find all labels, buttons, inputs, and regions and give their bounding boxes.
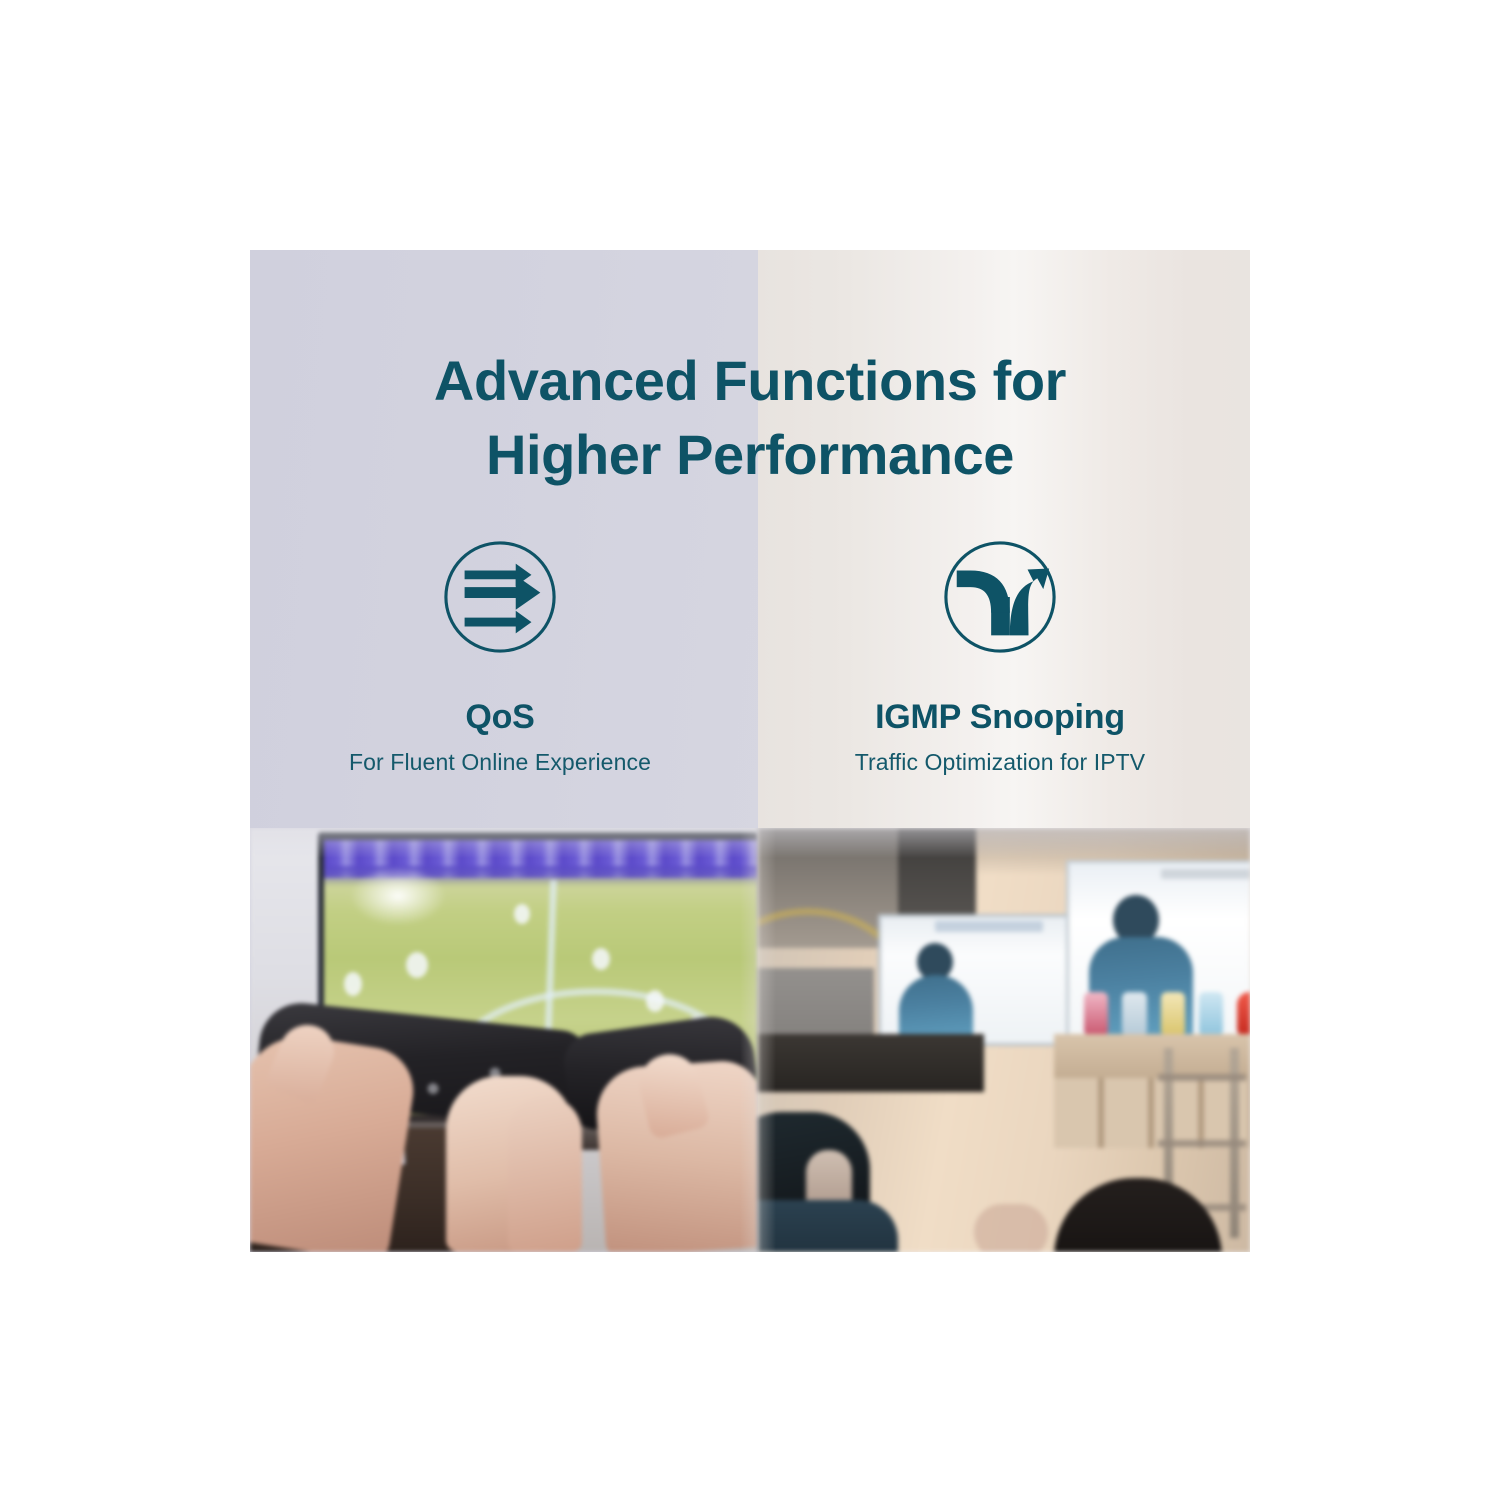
retail-showroom-displays-photo bbox=[758, 828, 1250, 1252]
igmp-branching-arrow-icon bbox=[941, 538, 1059, 656]
page-root: Advanced Functions for Higher Performanc… bbox=[0, 0, 1500, 1500]
frame-rung bbox=[1158, 1074, 1246, 1081]
player-blob bbox=[514, 904, 530, 924]
dark-low-shelf bbox=[758, 1034, 984, 1092]
headline-line-2: Higher Performance bbox=[250, 418, 1250, 492]
feature-title: IGMP Snooping bbox=[875, 698, 1125, 737]
product-icon bbox=[1122, 992, 1146, 1036]
product-icon bbox=[1161, 992, 1185, 1036]
feature-subtitle: Traffic Optimization for IPTV bbox=[855, 749, 1145, 776]
qos-arrows-icon bbox=[441, 538, 559, 656]
gaming-controller-tv-soccer-photo bbox=[250, 828, 758, 1252]
product-icon bbox=[1199, 992, 1223, 1036]
player-blob bbox=[592, 948, 610, 970]
feature-qos: QoS For Fluent Online Experience bbox=[250, 538, 750, 776]
foreground-blur-object bbox=[974, 1204, 1048, 1252]
player-blob bbox=[646, 990, 664, 1012]
center-finger bbox=[508, 1096, 582, 1252]
screen-banner bbox=[1161, 869, 1250, 879]
feature-igmp-snooping: IGMP Snooping Traffic Optimization for I… bbox=[750, 538, 1250, 776]
headline-line-1: Advanced Functions for bbox=[434, 349, 1066, 412]
feature-banner: Advanced Functions for Higher Performanc… bbox=[250, 250, 1250, 1252]
player-blob bbox=[344, 972, 362, 996]
controller-button bbox=[427, 1083, 439, 1095]
foreground-person-shoulder bbox=[758, 1200, 898, 1252]
photo-band bbox=[250, 828, 1250, 1252]
frame-rung bbox=[1158, 1140, 1246, 1147]
wall-shelving-dark bbox=[898, 828, 976, 916]
product-icon bbox=[1084, 992, 1108, 1036]
screen-glare bbox=[350, 866, 446, 926]
product-icon-row bbox=[1078, 986, 1250, 1036]
product-icon bbox=[1237, 992, 1250, 1036]
feature-subtitle: For Fluent Online Experience bbox=[349, 749, 651, 776]
player-blob bbox=[406, 952, 428, 978]
feature-title: QoS bbox=[465, 698, 534, 737]
page-title: Advanced Functions for Higher Performanc… bbox=[250, 344, 1250, 492]
screen-banner bbox=[935, 921, 1043, 932]
display-screen-small bbox=[878, 914, 1074, 1046]
feature-list: QoS For Fluent Online Experience IGMP S bbox=[250, 538, 1250, 776]
